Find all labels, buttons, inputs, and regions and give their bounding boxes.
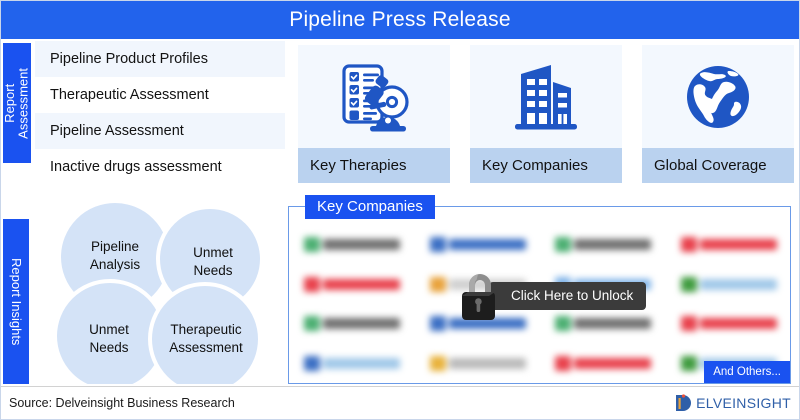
assessment-list: Pipeline Product Profiles Therapeutic As… [35, 41, 285, 186]
card-global-coverage[interactable]: Global Coverage [642, 45, 794, 183]
list-item[interactable]: Inactive drugs assessment [35, 149, 285, 185]
rail-report-assessment-label: Report Assessment [3, 68, 30, 139]
venn-label: Unmet [89, 322, 129, 337]
venn-diagram: Pipeline Analysis Unmet Needs Unmet Need… [47, 199, 277, 384]
feature-card-row: Key Therapies [298, 45, 800, 183]
venn-label: Needs [89, 340, 128, 355]
company-logo-mark [555, 237, 571, 252]
key-companies-panel: Key Companies Click Here to Unlock And O… [288, 206, 791, 384]
company-logo-mark [304, 316, 320, 331]
list-item-label: Pipeline Assessment [50, 123, 184, 139]
company-logo-wordmark [323, 318, 400, 329]
company-logo [681, 315, 777, 332]
company-logo [430, 355, 526, 372]
company-logo [304, 236, 400, 253]
list-item[interactable]: Pipeline Product Profiles [35, 41, 285, 77]
venn-label: Therapeutic [170, 322, 242, 337]
venn-label: Needs [193, 263, 232, 278]
card-label: Global Coverage [642, 148, 794, 183]
globe-icon [642, 45, 794, 148]
company-logo-wordmark [323, 358, 400, 369]
panel-tab-label: Key Companies [305, 195, 435, 219]
page-header: Pipeline Press Release [1, 1, 799, 39]
press-release-slide: Pipeline Press Release Report Assessment… [0, 0, 800, 420]
card-label: Key Companies [470, 148, 622, 183]
company-logo-wordmark [449, 358, 526, 369]
company-logo-wordmark [323, 279, 400, 290]
padlock-icon [457, 270, 503, 322]
page-footer: Source: Delveinsight Business Research E… [1, 386, 799, 419]
rail-report-insights-label: Report Insights [9, 258, 23, 345]
and-others-badge[interactable]: And Others... [704, 361, 790, 383]
clipboard-microscope-icon [298, 45, 450, 148]
company-logo-mark [430, 316, 446, 331]
venn-label: Analysis [90, 257, 141, 272]
venn-label: Unmet [193, 245, 233, 260]
company-logo-wordmark [574, 239, 651, 250]
page-title: Pipeline Press Release [289, 8, 511, 32]
unlock-overlay[interactable]: Click Here to Unlock [457, 270, 646, 322]
company-logo-wordmark [700, 239, 777, 250]
company-logo-mark [430, 237, 446, 252]
company-logo-wordmark [323, 239, 400, 250]
company-logo [555, 355, 651, 372]
venn-label: Assessment [169, 340, 243, 355]
company-logo-mark [681, 277, 697, 292]
company-logo-mark [430, 277, 446, 292]
company-logo-mark [304, 277, 320, 292]
list-item[interactable]: Therapeutic Assessment [35, 77, 285, 113]
company-logo [304, 315, 400, 332]
company-logo-mark [430, 356, 446, 371]
company-logo-wordmark [700, 318, 777, 329]
company-logo [304, 355, 400, 372]
company-logo-mark [681, 356, 697, 371]
company-logo-wordmark [574, 358, 651, 369]
card-key-therapies[interactable]: Key Therapies [298, 45, 450, 183]
delveinsight-mark-icon [674, 392, 696, 414]
card-label: Key Therapies [298, 148, 450, 183]
company-logo [304, 276, 400, 293]
delveinsight-wordmark: ELVEINSIGHT [696, 395, 791, 411]
venn-label: Pipeline [91, 239, 139, 254]
company-logo-wordmark [700, 279, 777, 290]
company-logo-mark [555, 356, 571, 371]
list-item-label: Therapeutic Assessment [50, 87, 209, 103]
card-key-companies[interactable]: Key Companies [470, 45, 622, 183]
delveinsight-logo: ELVEINSIGHT [674, 392, 791, 414]
rail-report-assessment: Report Assessment [3, 43, 31, 163]
rail-report-insights: Report Insights [3, 219, 29, 384]
company-logo-mark [304, 237, 320, 252]
company-logo-mark [304, 356, 320, 371]
unlock-tooltip-label: Click Here to Unlock [489, 282, 646, 310]
company-logo [681, 236, 777, 253]
company-logo-wordmark [449, 239, 526, 250]
buildings-icon [470, 45, 622, 148]
list-item-label: Pipeline Product Profiles [50, 51, 208, 67]
company-logo-mark [681, 316, 697, 331]
list-item-label: Inactive drugs assessment [50, 159, 222, 175]
company-logo [681, 276, 777, 293]
company-logo [430, 236, 526, 253]
list-item[interactable]: Pipeline Assessment [35, 113, 285, 149]
source-note: Source: Delveinsight Business Research [9, 396, 235, 410]
company-logo-mark [681, 237, 697, 252]
company-logo [555, 236, 651, 253]
